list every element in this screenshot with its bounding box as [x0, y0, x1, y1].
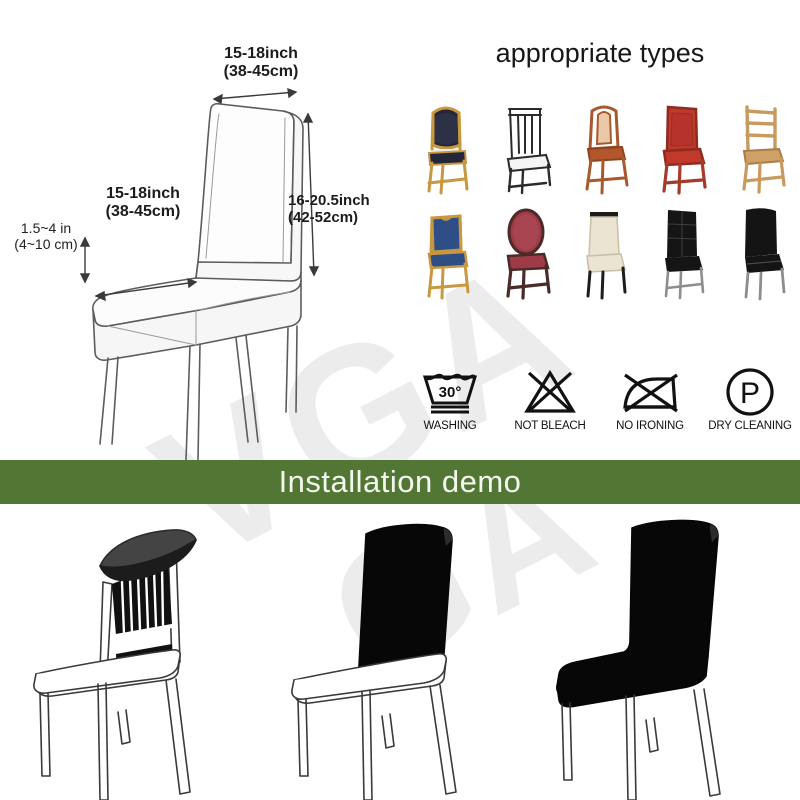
demo-step-cover-installed — [532, 504, 798, 800]
svg-text:30°: 30° — [439, 384, 462, 401]
appropriate-types-section: appropriate types — [400, 0, 800, 330]
chair-types-grid — [408, 92, 800, 302]
not-bleach-icon — [504, 366, 596, 418]
chair-thumb-parsons-chair-cream — [565, 197, 643, 302]
care-label-dry-cleaning: DRY CLEANING — [704, 420, 796, 432]
dry-cleaning-symbol: P — [740, 377, 760, 410]
chair-thumb-metal-chair-black-white — [486, 92, 564, 197]
care-label-no-ironing: NO IRONING — [604, 420, 696, 432]
installation-demo-title: Installation demo — [279, 464, 522, 500]
care-label-washing: WASHING — [404, 420, 496, 432]
dry-cleaning-icon: P — [704, 366, 796, 418]
chair-thumb-banquet-chair-blue-gold — [408, 197, 486, 302]
demo-steps — [0, 504, 800, 800]
installation-demo-banner: Installation demo — [0, 460, 800, 504]
chair-thumb-wood-chair-red — [643, 92, 721, 197]
care-item-not-bleach: NOT BLEACH — [504, 366, 596, 432]
dimension-seat-inch: 15-18inch — [106, 185, 180, 202]
appropriate-types-title: appropriate types — [400, 38, 800, 69]
chair-thumb-wood-chair-rust — [565, 92, 643, 197]
dimension-back-cm: (42-52cm) — [288, 209, 394, 226]
care-item-dry-cleaning: P DRY CLEANING — [704, 366, 796, 432]
no-ironing-icon — [604, 366, 696, 418]
care-label-not-bleach: NOT BLEACH — [504, 420, 596, 432]
dimension-label-top-width: 15-18inch (38-45cm) — [196, 45, 326, 82]
infographic-page: VGA GA — [0, 0, 800, 800]
care-instructions: 30° WASHING NOT BLEACH — [400, 366, 800, 456]
chair-thumb-leather-chair-black — [722, 197, 800, 302]
chair-thumb-tufted-chair-black — [643, 197, 721, 302]
dimension-top-inch: 15-18inch — [224, 45, 298, 62]
dimension-label-skirt-drop: 1.5~4 in (4~10 cm) — [4, 220, 88, 252]
chair-thumb-banquet-chair-navy-gold — [408, 92, 486, 197]
top-section: 15-18inch (38-45cm) 15-18inch (38-45cm) … — [0, 0, 800, 460]
demo-step-pull-over-back — [266, 504, 532, 800]
dimension-label-back-height: 16-20.5inch (42-52cm) — [288, 192, 394, 227]
dimension-back-inch: 16-20.5inch — [288, 192, 370, 209]
chair-thumb-wood-chair-light-ladder — [722, 92, 800, 197]
dimension-skirt-cm: (4~10 cm) — [4, 236, 88, 252]
dimension-skirt-inch: 1.5~4 in — [21, 220, 71, 236]
demo-step-drape-cover — [0, 504, 266, 800]
dimension-seat-cm: (38-45cm) — [78, 203, 208, 221]
dimension-diagram: 15-18inch (38-45cm) 15-18inch (38-45cm) … — [0, 0, 400, 460]
chair-thumb-round-back-chair-darkred — [486, 197, 564, 302]
dimension-top-cm: (38-45cm) — [196, 63, 326, 81]
dimension-label-seat-width: 15-18inch (38-45cm) — [78, 185, 208, 222]
washing-tub-30-icon: 30° — [404, 366, 496, 418]
care-item-washing: 30° WASHING — [404, 366, 496, 432]
care-item-no-ironing: NO IRONING — [604, 366, 696, 432]
installation-demo-section — [0, 504, 800, 800]
